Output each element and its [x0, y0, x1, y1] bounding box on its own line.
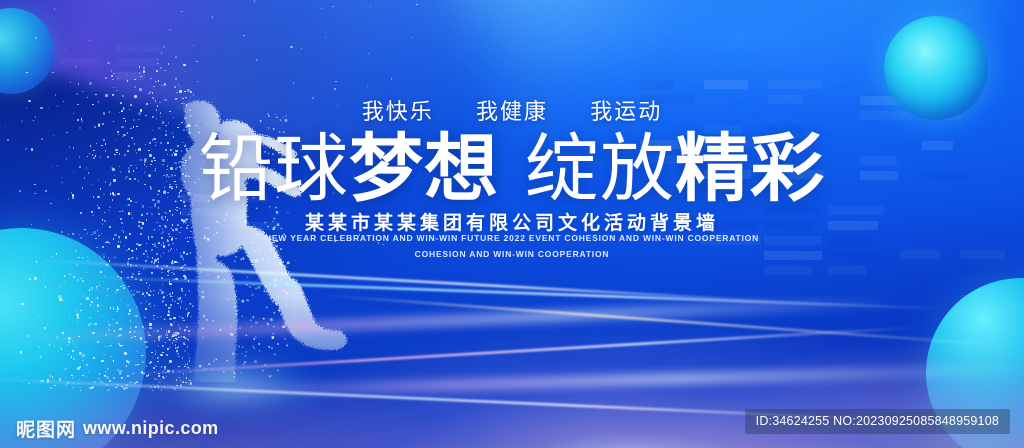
headline-segment-2: 梦想 — [349, 127, 499, 210]
tech-bar — [116, 72, 145, 80]
headline-segment-4: 精彩 — [675, 127, 825, 210]
slogan-line: 我快乐 我健康 我运动 — [0, 94, 1024, 126]
watermark-site-url: www.nipic.com — [83, 418, 219, 439]
tech-bar — [116, 58, 158, 66]
slogan-part-1: 我快乐 — [362, 94, 434, 126]
page-title: 铅球梦想绽放精彩 — [0, 126, 1024, 212]
english-tagline-2: COHESION AND WIN-WIN COOPERATION — [0, 249, 1024, 259]
tech-bar — [116, 44, 161, 52]
slogan-part-2: 我健康 — [476, 94, 548, 126]
poster-canvas: 我快乐 我健康 我运动 铅球梦想绽放精彩 某某市某某集团有限公司文化活动背景墙 … — [0, 0, 1024, 448]
watermark-site-name: 昵图网 — [16, 415, 76, 442]
watermark: 昵图网 www.nipic.com — [16, 415, 219, 442]
slogan-part-3: 我运动 — [590, 94, 662, 126]
image-id-badge: ID:34624255 NO:20230925085848959108 — [745, 409, 1010, 434]
english-tagline-1: NEW YEAR CELEBRATION AND WIN-WIN FUTURE … — [0, 233, 1024, 243]
headline-segment-3: 绽放 — [525, 127, 675, 210]
company-subtitle: 某某市某某集团有限公司文化活动背景墙 — [0, 208, 1024, 235]
headline-segment-1: 铅球 — [199, 127, 349, 210]
tech-bar — [60, 58, 99, 66]
